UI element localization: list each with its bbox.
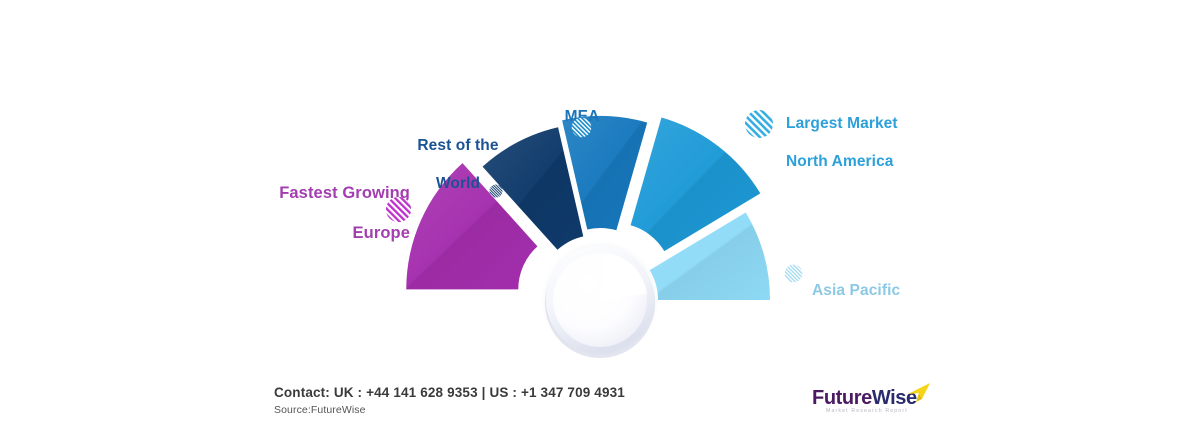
label-na-line1: Largest Market bbox=[786, 115, 898, 132]
hatched-circle-icon-europe bbox=[385, 196, 412, 223]
chart-center-hub bbox=[541, 241, 659, 359]
regional-market-share-chart: Fastest Growing Europe Rest of the World… bbox=[0, 0, 1200, 380]
label-row-line2: World bbox=[436, 175, 480, 192]
pie-chart-svg bbox=[0, 0, 1200, 380]
footer-source-line: Source:FutureWise bbox=[274, 404, 366, 416]
logo-word-future: Future bbox=[812, 387, 872, 409]
label-asia-pacific: Asia Pacific bbox=[812, 263, 982, 301]
futurewise-logo[interactable]: FutureWise Market Research Report bbox=[812, 383, 930, 417]
label-rest-of-the-world: Rest of the World bbox=[398, 118, 518, 194]
label-europe: Fastest Growing Europe bbox=[240, 163, 410, 244]
label-europe-line2: Europe bbox=[353, 224, 410, 242]
infographic-canvas: Fastest Growing Europe Rest of the World… bbox=[0, 0, 1200, 428]
label-north-america: Largest Market North America bbox=[786, 96, 976, 172]
logo-tagline: Market Research Report bbox=[826, 408, 908, 414]
label-row-line1: Rest of the bbox=[417, 137, 498, 154]
footer-contact-line: Contact: UK : +44 141 628 9353 | US : +1… bbox=[274, 385, 625, 400]
hatched-circle-icon-asia-pacific bbox=[784, 264, 803, 283]
hatched-circle-icon-rest-of-the-world bbox=[489, 184, 503, 198]
label-ap-line1: Asia Pacific bbox=[812, 282, 900, 299]
hatched-circle-icon-mea bbox=[571, 117, 592, 138]
arrow-icon bbox=[907, 383, 931, 403]
label-na-line2: North America bbox=[786, 153, 894, 170]
hatched-circle-icon-north-america bbox=[744, 109, 774, 139]
logo-wordmark: FutureWise bbox=[812, 387, 917, 410]
